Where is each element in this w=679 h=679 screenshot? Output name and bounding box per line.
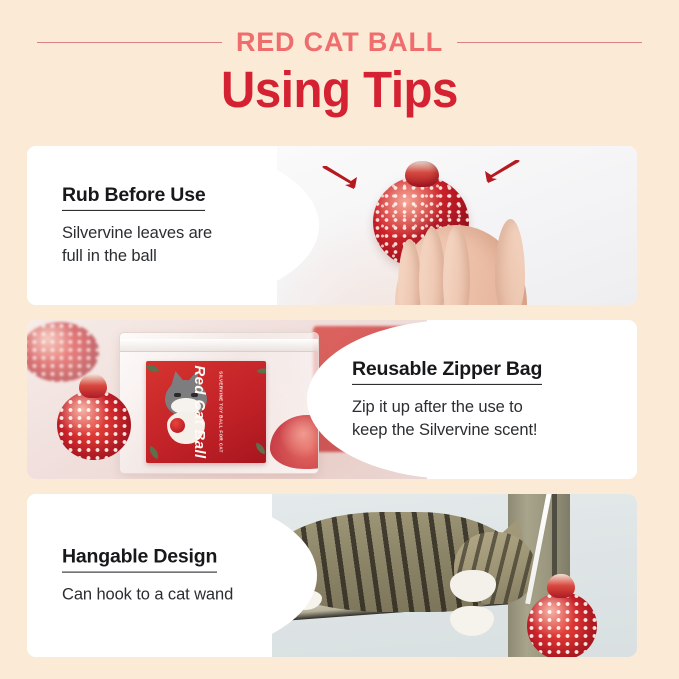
text-panel: Reusable Zipper Bag Zip it up after the … xyxy=(307,320,637,479)
mascot-held-ball xyxy=(170,418,185,433)
leaf-icon xyxy=(254,443,266,455)
tip-card-reusable-zipper-bag: Red Cat Ball xyxy=(27,320,637,479)
tip-body: Silvervine leaves are full in the ball xyxy=(62,222,212,269)
text-panel: Hangable Design Can hook to a cat wand xyxy=(27,494,317,657)
arrow-left-icon xyxy=(321,166,367,190)
zipper-strip xyxy=(120,339,318,352)
leaf-icon xyxy=(146,363,159,375)
cat-ball-knot xyxy=(405,161,439,187)
product-label: Red Cat Ball SILVERVINE TOY BALL FOR CAT xyxy=(146,361,266,463)
mascot-eye xyxy=(174,393,181,397)
finger xyxy=(398,239,421,305)
cat-ball-knot xyxy=(547,574,575,598)
leaf-icon xyxy=(257,365,266,377)
thumb xyxy=(495,219,525,305)
finger xyxy=(443,225,470,305)
cat-ball xyxy=(527,592,597,657)
tip-title: Hangable Design xyxy=(62,544,217,572)
divider-line-left xyxy=(37,42,222,43)
text-block: Reusable Zipper Bag Zip it up after the … xyxy=(352,356,542,442)
mascot-ear xyxy=(168,370,187,388)
zipper-bag: Red Cat Ball SILVERVINE TOY BALL FOR CAT xyxy=(119,332,319,474)
tip-card-rub-before-use: Rub Before Use Silvervine leaves are ful… xyxy=(27,146,637,305)
divider-line-right xyxy=(457,42,642,43)
brand-eyebrow: RED CAT BALL xyxy=(236,29,443,56)
photo-cat-playing xyxy=(272,494,637,657)
finger xyxy=(419,227,445,305)
cat-ball-knot xyxy=(79,374,107,398)
page-header: RED CAT BALL Using Tips xyxy=(0,0,679,135)
label-brand-name: Red Cat Ball xyxy=(191,365,208,458)
label-subtitle: SILVERVINE TOY BALL FOR CAT xyxy=(219,371,224,453)
cat-paw xyxy=(450,606,494,636)
text-block: Rub Before Use Silvervine leaves are ful… xyxy=(62,182,212,268)
background-cat-ball xyxy=(27,322,99,382)
infographic-page: RED CAT BALL Using Tips xyxy=(0,0,679,679)
ball-inside-bag xyxy=(270,415,319,469)
arrow-right-icon xyxy=(475,160,521,184)
tip-body: Zip it up after the use to keep the Silv… xyxy=(352,396,542,443)
tip-title: Reusable Zipper Bag xyxy=(352,356,542,384)
tip-title: Rub Before Use xyxy=(62,182,205,210)
text-panel: Rub Before Use Silvervine leaves are ful… xyxy=(27,146,319,305)
photo-hand-holding-ball xyxy=(277,146,637,305)
text-block: Hangable Design Can hook to a cat wand xyxy=(62,544,233,607)
cat-ball xyxy=(57,390,131,460)
eyebrow-row: RED CAT BALL xyxy=(0,24,679,60)
page-title: Using Tips xyxy=(24,62,655,117)
tip-card-hangable-design: Hangable Design Can hook to a cat wand xyxy=(27,494,637,657)
tip-body: Can hook to a cat wand xyxy=(62,583,233,606)
